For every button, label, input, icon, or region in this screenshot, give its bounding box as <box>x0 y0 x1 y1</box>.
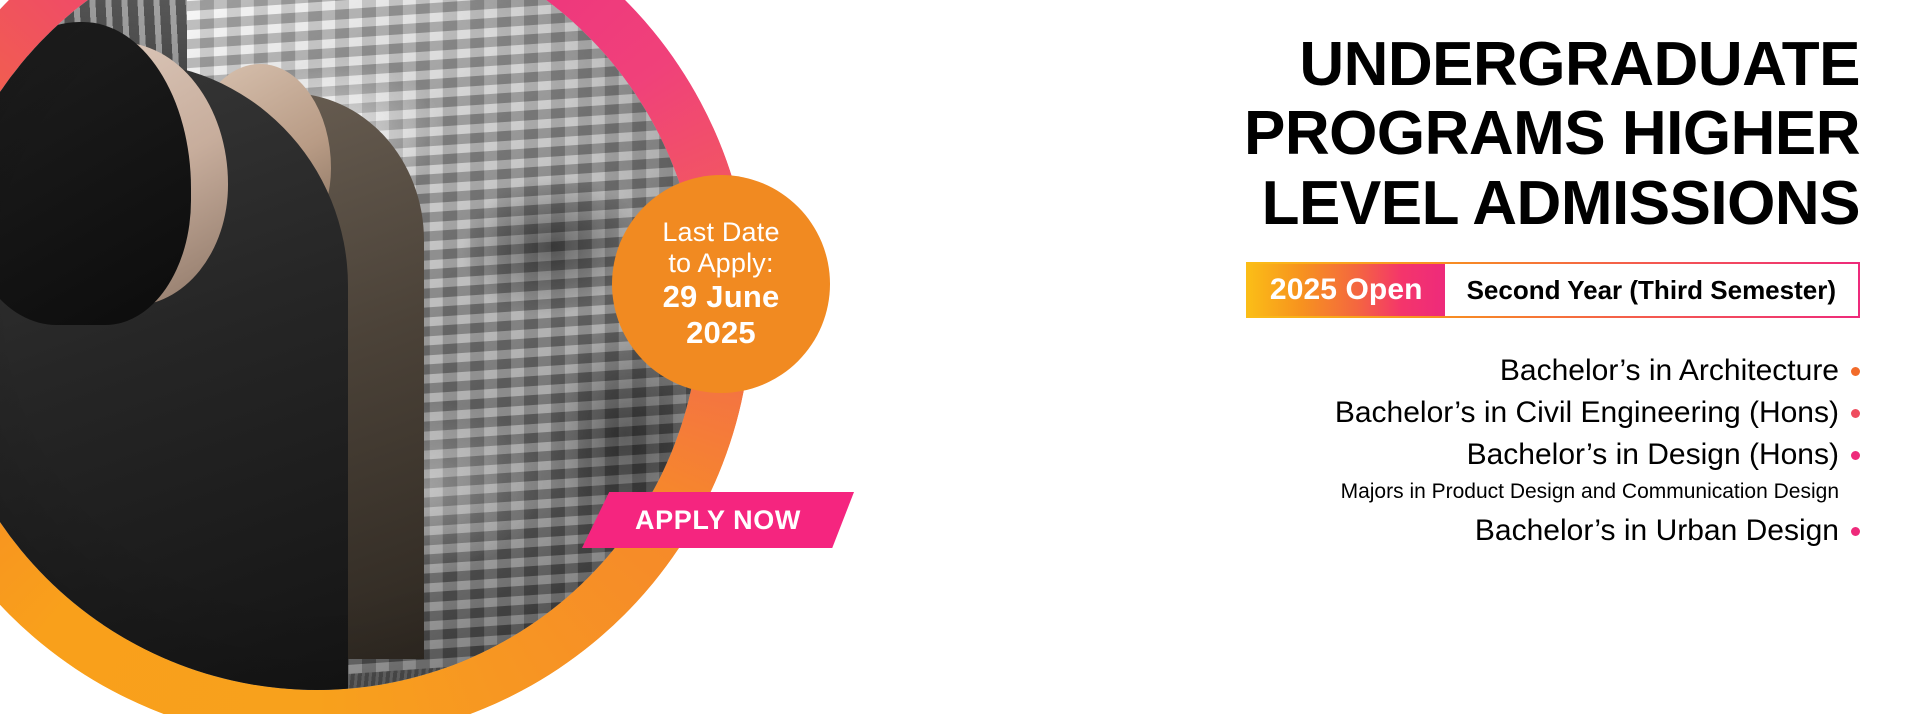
last-date-line-1: Last Date <box>662 217 779 248</box>
bullet-dot-icon <box>1851 451 1860 460</box>
status-badge-semester: Second Year (Third Semester) <box>1445 264 1858 316</box>
last-date-line-2: to Apply: <box>668 248 773 279</box>
headline-line-1: UNDERGRADUATE <box>900 30 1860 99</box>
status-badge-row: 2025 Open Second Year (Third Semester) <box>900 262 1860 318</box>
program-label: Bachelor’s in Urban Design <box>1475 514 1839 548</box>
bullet-dot-icon <box>1851 527 1860 536</box>
last-date-badge: Last Date to Apply: 29 June 2025 <box>612 175 830 393</box>
right-content-panel: UNDERGRADUATE PROGRAMS HIGHER LEVEL ADMI… <box>900 0 1920 714</box>
program-label: Bachelor’s in Architecture <box>1500 354 1839 388</box>
list-item: Bachelor’s in Urban Design <box>900 514 1860 548</box>
status-badge: 2025 Open Second Year (Third Semester) <box>1246 262 1860 318</box>
list-item: Bachelor’s in Architecture <box>900 354 1860 388</box>
program-sub-note-row: Majors in Product Design and Communicati… <box>900 480 1860 504</box>
last-date-line-3: 29 June <box>663 279 780 315</box>
bullet-dot-icon <box>1851 409 1860 418</box>
apply-now-button[interactable]: APPLY NOW <box>582 492 854 548</box>
list-item: Bachelor’s in Civil Engineering (Hons) <box>900 396 1860 430</box>
last-date-line-4: 2025 <box>686 315 756 351</box>
admissions-banner: Last Date to Apply: 29 June 2025 APPLY N… <box>0 0 1920 714</box>
student-photo <box>0 0 700 690</box>
page-title: UNDERGRADUATE PROGRAMS HIGHER LEVEL ADMI… <box>900 0 1860 238</box>
bullet-dot-icon <box>1851 367 1860 376</box>
apply-now-label: APPLY NOW <box>635 505 801 536</box>
status-badge-inner: 2025 Open Second Year (Third Semester) <box>1248 264 1858 316</box>
student-photo-circle <box>0 0 700 690</box>
left-visual-panel: Last Date to Apply: 29 June 2025 APPLY N… <box>0 0 900 714</box>
headline-line-2: PROGRAMS HIGHER <box>900 99 1860 168</box>
headline-line-3: LEVEL ADMISSIONS <box>900 169 1860 238</box>
program-label: Bachelor’s in Design (Hons) <box>1467 438 1839 472</box>
photo-vignette <box>0 0 700 690</box>
program-label: Bachelor’s in Civil Engineering (Hons) <box>1335 396 1839 430</box>
list-item: Bachelor’s in Design (Hons) <box>900 438 1860 472</box>
program-list: Bachelor’s in Architecture Bachelor’s in… <box>900 354 1860 548</box>
program-sub-note: Majors in Product Design and Communicati… <box>900 480 1839 504</box>
status-badge-open: 2025 Open <box>1248 264 1445 316</box>
